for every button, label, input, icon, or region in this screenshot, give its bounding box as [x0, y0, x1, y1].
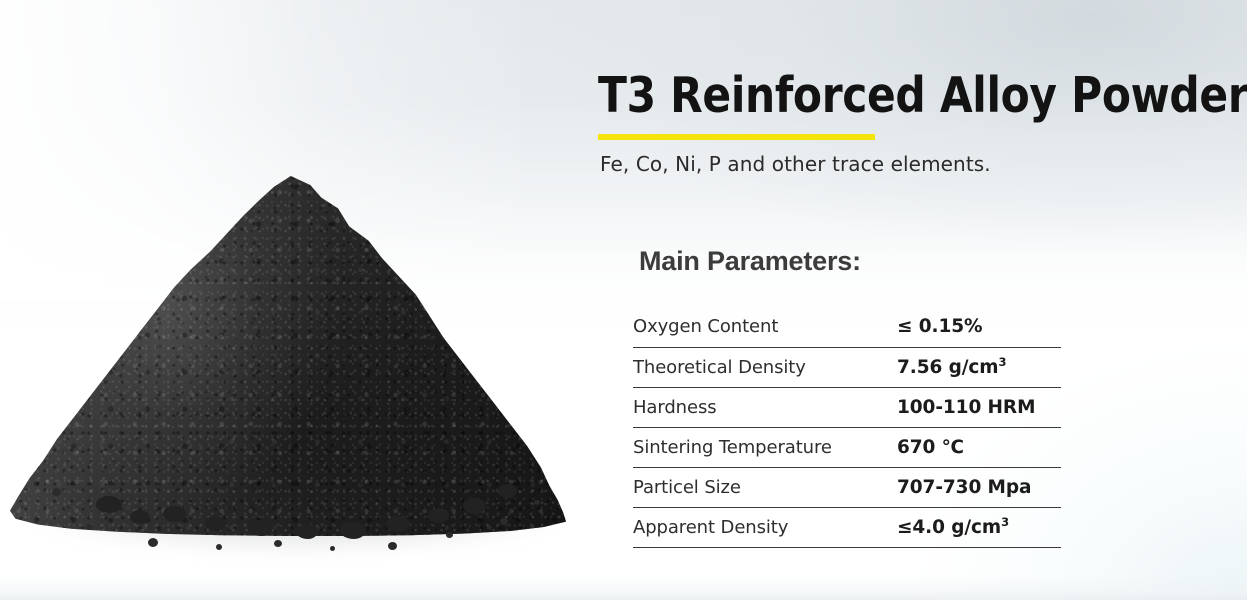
parameter-value: 707-730 Mpa: [897, 467, 1061, 507]
powder-speck: [274, 540, 282, 547]
parameter-value: 670 ℃: [897, 427, 1061, 467]
parameter-label: Sintering Temperature: [633, 427, 897, 467]
parameter-value: 100-110 HRM: [897, 387, 1061, 427]
subtitle: Fe, Co, Ni, P and other trace elements.: [600, 152, 991, 176]
product-banner: T3 Reinforced Alloy Powders Fe, Co, Ni, …: [0, 0, 1247, 600]
parameter-value: ≤4.0 g/cm3: [897, 507, 1061, 547]
powder-speck: [216, 544, 222, 550]
powder-pile: [10, 176, 566, 536]
powder-speck: [52, 488, 61, 496]
powder-photo: [0, 150, 600, 570]
powder-speck: [86, 524, 93, 530]
page-title: T3 Reinforced Alloy Powders: [598, 68, 1139, 124]
table-row: Apparent Density≤4.0 g/cm3: [633, 507, 1061, 547]
table-row: Sintering Temperature670 ℃: [633, 427, 1061, 467]
powder-crumb: [130, 510, 149, 524]
parameters-table-body: Oxygen Content≤ 0.15%Theoretical Density…: [633, 307, 1061, 547]
powder-crumb: [340, 522, 366, 539]
parameter-value-exponent: 3: [1001, 515, 1009, 529]
powder-speck: [148, 538, 158, 547]
background-floor-shadow: [0, 574, 1247, 600]
parameter-label: Apparent Density: [633, 507, 897, 547]
parameters-heading: Main Parameters:: [639, 246, 861, 277]
table-row: Particel Size707-730 Mpa: [633, 467, 1061, 507]
powder-crumb: [498, 484, 517, 498]
powder-crumb: [428, 508, 449, 523]
powder-crumb: [463, 498, 486, 514]
powder-speck: [500, 518, 508, 525]
powder-crumb: [96, 496, 122, 513]
table-row: Oxygen Content≤ 0.15%: [633, 307, 1061, 347]
table-row: Hardness100-110 HRM: [633, 387, 1061, 427]
powder-speck: [534, 500, 540, 505]
parameter-label: Hardness: [633, 387, 897, 427]
powder-crumb: [205, 516, 226, 531]
powder-speck: [388, 542, 397, 550]
powder-texture-coarse: [10, 176, 566, 536]
powder-speck: [446, 532, 453, 538]
title-accent-rule: [598, 134, 875, 140]
parameters-table: Oxygen Content≤ 0.15%Theoretical Density…: [633, 307, 1061, 548]
parameter-label: Particel Size: [633, 467, 897, 507]
parameter-value-exponent: 3: [998, 355, 1006, 369]
parameter-label: Oxygen Content: [633, 307, 897, 347]
parameter-value: 7.56 g/cm3: [897, 347, 1061, 387]
powder-crumb: [248, 520, 273, 536]
parameter-label: Theoretical Density: [633, 347, 897, 387]
powder-crumb: [386, 516, 410, 532]
powder-crumb: [163, 506, 186, 522]
powder-speck: [330, 546, 335, 551]
powder-crumb: [296, 524, 318, 539]
table-row: Theoretical Density7.56 g/cm3: [633, 347, 1061, 387]
parameter-value: ≤ 0.15%: [897, 307, 1061, 347]
